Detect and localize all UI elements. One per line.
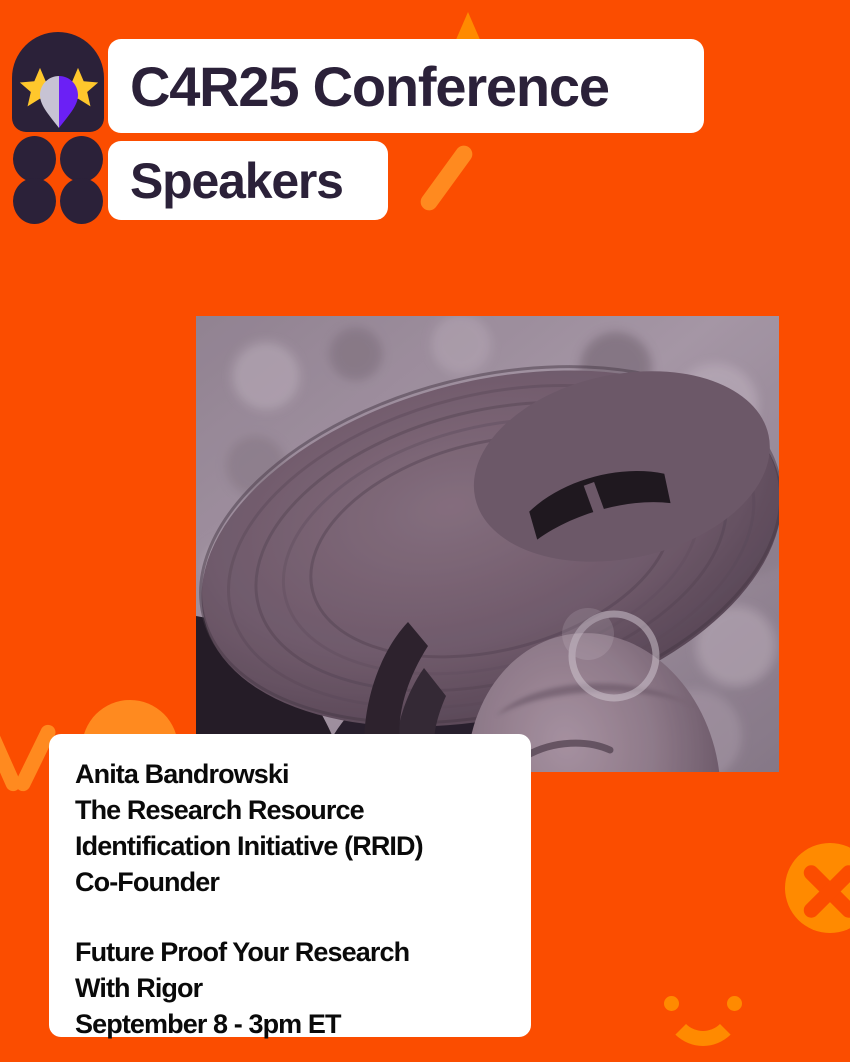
logo-dot	[13, 136, 56, 182]
x-circle-accent-icon	[785, 843, 850, 933]
triangle-accent-icon	[455, 12, 481, 42]
smile-cap-right	[727, 996, 742, 1011]
x-stroke-a	[801, 862, 850, 921]
talk-title-line-1: Future Proof Your Research	[75, 934, 505, 970]
speaker-affiliation-line-1: The Research Resource	[75, 792, 505, 828]
c4r-logo	[12, 32, 104, 220]
conference-title-text: C4R25 Conference	[130, 54, 609, 119]
speaker-name: Anita Bandrowski	[75, 756, 505, 792]
speaker-affiliation-line-2: Identification Initiative (RRID)	[75, 828, 505, 864]
map-pin-icon	[40, 76, 78, 128]
speaker-role: Co-Founder	[75, 864, 505, 900]
talk-title-line-2: With Rigor	[75, 970, 505, 1006]
speakers-title-text: Speakers	[130, 152, 343, 210]
logo-dot	[60, 136, 103, 182]
talk-datetime: September 8 - 3pm ET	[75, 1006, 505, 1042]
spacer	[75, 900, 505, 934]
speakers-title-card: Speakers	[108, 141, 388, 220]
speaker-info-card: Anita Bandrowski The Research Resource I…	[49, 734, 531, 1037]
logo-dot	[60, 178, 103, 224]
chevron-accent-icon	[0, 712, 23, 793]
logo-dot	[13, 178, 56, 224]
speaker-portrait	[196, 316, 779, 772]
speaker-announcement-poster: C4R25 Conference Speakers	[0, 0, 850, 1062]
slash-accent-icon	[417, 142, 475, 213]
x-stroke-b	[801, 862, 850, 921]
conference-title-card: C4R25 Conference	[108, 39, 704, 133]
smile-cap-left	[664, 996, 679, 1011]
smile-arc-accent-icon	[664, 968, 742, 1046]
